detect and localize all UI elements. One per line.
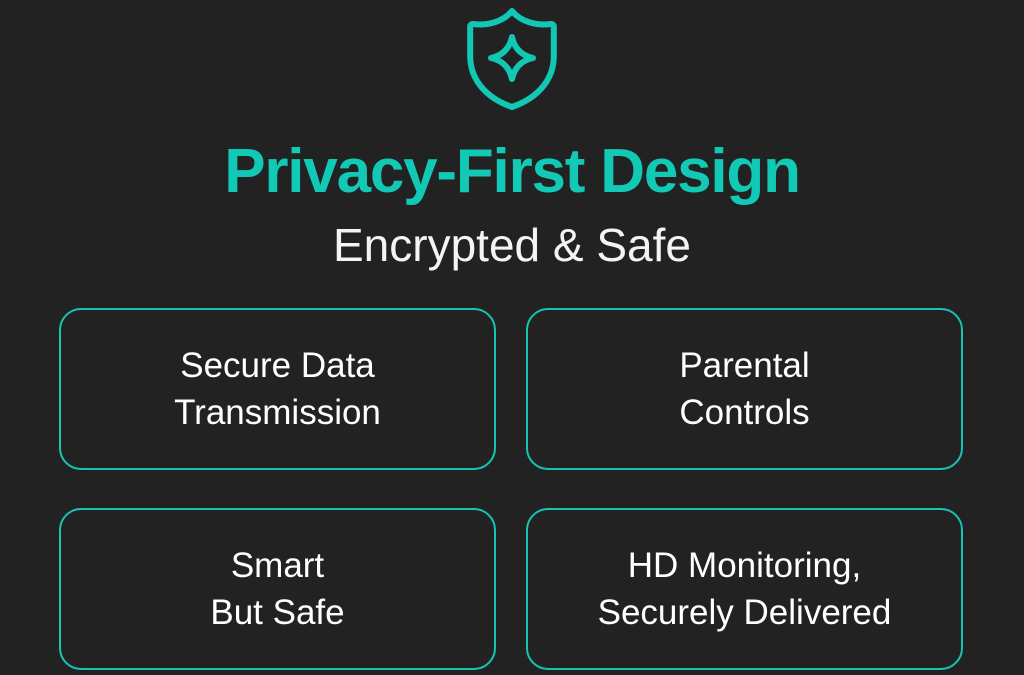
card-secure-data-transmission[interactable]: Secure Data Transmission — [59, 308, 496, 470]
card-parental-controls[interactable]: Parental Controls — [526, 308, 963, 470]
privacy-first-design-poster: Privacy-First Design Encrypted & Safe Se… — [0, 0, 1024, 675]
feature-card-grid: Secure Data Transmission Parental Contro… — [59, 308, 963, 670]
page-subtitle: Encrypted & Safe — [0, 217, 1024, 273]
shield-diamond-icon — [457, 4, 567, 112]
card-label: HD Monitoring, Securely Delivered — [598, 542, 892, 636]
shield-icon-container — [0, 4, 1024, 112]
card-label: Parental Controls — [679, 342, 809, 436]
card-label: Smart But Safe — [210, 542, 344, 636]
page-title: Privacy-First Design — [0, 137, 1024, 207]
card-hd-monitoring[interactable]: HD Monitoring, Securely Delivered — [526, 508, 963, 670]
card-label: Secure Data Transmission — [174, 342, 381, 436]
card-smart-but-safe[interactable]: Smart But Safe — [59, 508, 496, 670]
